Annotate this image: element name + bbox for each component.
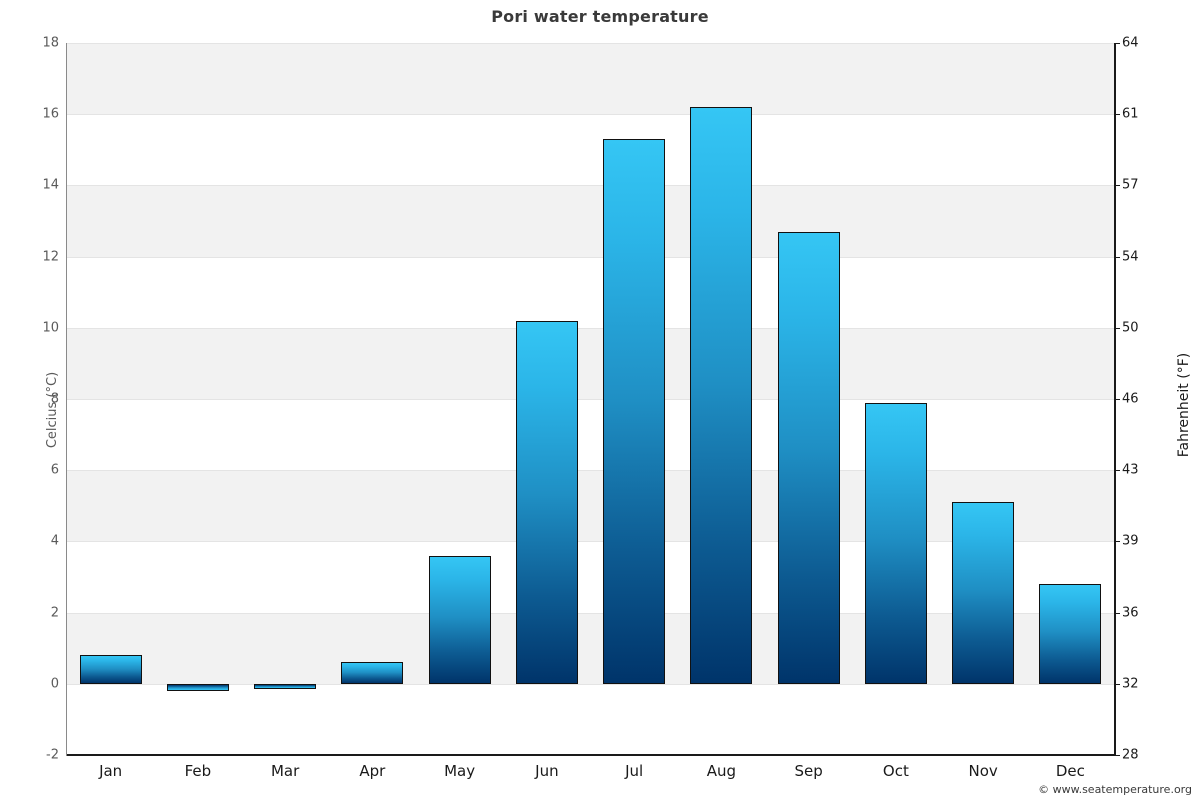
x-axis-tick-label-feb: Feb (185, 762, 212, 780)
y-axis-left-tick-label: 10 (42, 320, 59, 335)
y-axis-right-tick-mark (1114, 684, 1120, 685)
y-axis-right-tick-label: 57 (1122, 178, 1139, 193)
x-axis-tick-label-apr: Apr (359, 762, 385, 780)
y-axis-right-tick-mark (1114, 541, 1120, 542)
y-axis-right-tick-mark (1114, 470, 1120, 471)
x-axis-tick-label-may: May (444, 762, 475, 780)
bar-feb[interactable] (167, 684, 229, 691)
y-axis-right-tick-label: 46 (1122, 392, 1139, 407)
x-axis-tick-label-jan: Jan (99, 762, 122, 780)
y-axis-left-tick-label: 2 (51, 605, 59, 620)
y-axis-left-tick-label: 18 (42, 36, 59, 51)
y-axis-right-tick-label: 61 (1122, 107, 1139, 122)
bar-jan[interactable] (80, 655, 142, 683)
x-axis-tick-label-mar: Mar (271, 762, 299, 780)
gridline (67, 399, 1114, 400)
y-axis-right-tick-label: 54 (1122, 249, 1139, 264)
y-axis-right-tick-label: 28 (1122, 748, 1139, 763)
y-axis-right-tick-mark (1114, 185, 1120, 186)
bar-mar[interactable] (254, 684, 316, 689)
y-axis-left-tick-label: -2 (46, 748, 59, 763)
x-axis-line (67, 754, 1115, 756)
y-axis-left-tick-label: 4 (51, 534, 59, 549)
x-axis-tick-label-aug: Aug (707, 762, 736, 780)
bar-oct[interactable] (865, 403, 927, 684)
y-axis-right-tick-label: 50 (1122, 320, 1139, 335)
x-axis-tick-label-sep: Sep (794, 762, 822, 780)
y-axis-left-tick-label: 16 (42, 107, 59, 122)
gridline (67, 43, 1114, 44)
y-axis-left-tick-label: 12 (42, 249, 59, 264)
x-axis-tick-label-oct: Oct (883, 762, 909, 780)
y-axis-left-tick-label: 0 (51, 676, 59, 691)
y-axis-right-tick-mark (1114, 114, 1120, 115)
plot-band (67, 185, 1114, 256)
y-axis-right-tick-label: 36 (1122, 605, 1139, 620)
y-axis-left-line (66, 43, 67, 756)
y-axis-right-title: Fahrenheit (°F) (1176, 325, 1192, 485)
bar-jul[interactable] (603, 139, 665, 684)
plot-band (67, 43, 1114, 114)
gridline (67, 257, 1114, 258)
y-axis-right-tick-label: 64 (1122, 36, 1139, 51)
x-axis-tick-label-dec: Dec (1056, 762, 1085, 780)
gridline (67, 185, 1114, 186)
y-axis-right-tick-mark (1114, 613, 1120, 614)
y-axis-right-tick-label: 43 (1122, 463, 1139, 478)
y-axis-right-tick-label: 39 (1122, 534, 1139, 549)
bar-apr[interactable] (341, 662, 403, 683)
bar-jun[interactable] (516, 321, 578, 684)
bar-dec[interactable] (1039, 584, 1101, 684)
y-axis-left-tick-label: 14 (42, 178, 59, 193)
y-axis-right-tick-mark (1114, 257, 1120, 258)
y-axis-left-title: Celcius (°C) (45, 350, 60, 470)
bar-aug[interactable] (690, 107, 752, 684)
y-axis-right-tick-mark (1114, 399, 1120, 400)
chart-title: Pori water temperature (0, 7, 1200, 26)
y-axis-right-tick-mark (1114, 43, 1120, 44)
y-axis-right-tick-label: 32 (1122, 676, 1139, 691)
bar-nov[interactable] (952, 502, 1014, 684)
water-temperature-chart: Pori water temperature -2024681012141618… (0, 0, 1200, 800)
plot-band (67, 328, 1114, 399)
bar-sep[interactable] (778, 232, 840, 684)
bar-may[interactable] (429, 556, 491, 684)
x-axis-tick-label-jul: Jul (625, 762, 643, 780)
gridline (67, 470, 1114, 471)
x-axis-tick-label-nov: Nov (968, 762, 997, 780)
gridline (67, 114, 1114, 115)
y-axis-right-tick-mark (1114, 328, 1120, 329)
x-axis-tick-label-jun: Jun (535, 762, 558, 780)
gridline (67, 328, 1114, 329)
y-axis-right-tick-mark (1114, 755, 1120, 756)
footer-credit: © www.seatemperature.org (1038, 783, 1192, 796)
